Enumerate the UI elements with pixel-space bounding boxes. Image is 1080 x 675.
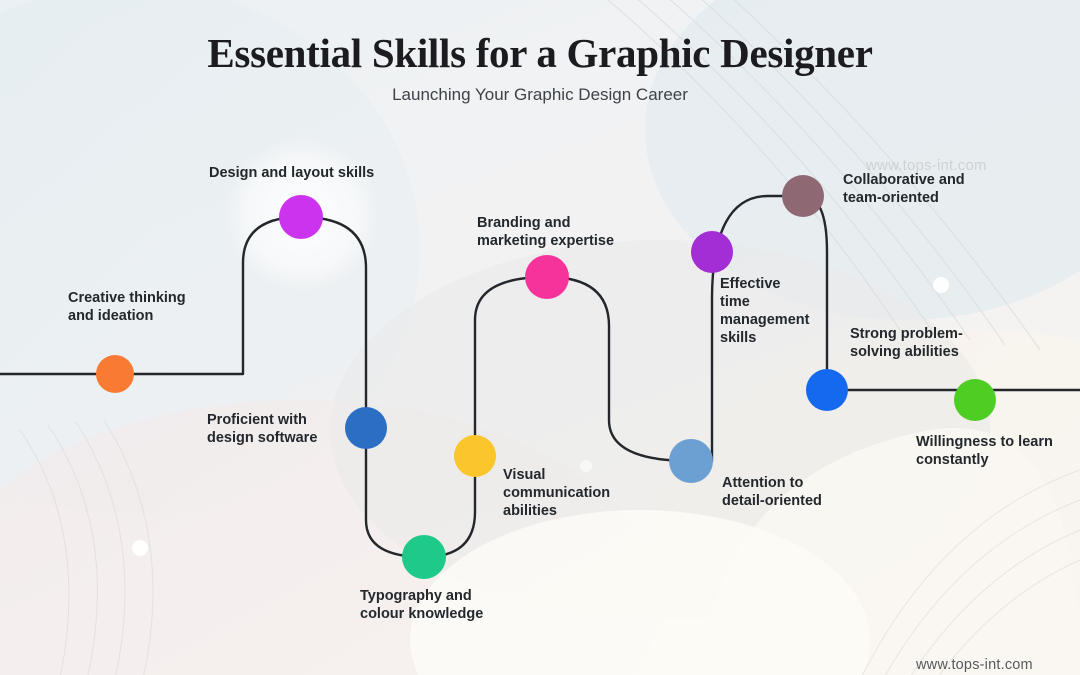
skill-node-label-attention-to-detail-oriented: Attention to detail-oriented <box>722 474 822 510</box>
skill-node-label-creative-thinking-and-ideation: Creative thinking and ideation <box>68 289 186 325</box>
header: Essential Skills for a Graphic Designer … <box>0 30 1080 106</box>
skill-node-dot-proficient-with-design-software[interactable] <box>345 407 387 449</box>
skill-node-label-typography-and-colour-knowledge: Typography and colour knowledge <box>360 587 483 623</box>
skill-node-dot-design-and-layout-skills[interactable] <box>279 195 323 239</box>
skill-node-dot-creative-thinking-and-ideation[interactable] <box>96 355 134 393</box>
skill-node-dot-strong-problem-solving-abilities[interactable] <box>806 369 848 411</box>
skill-node-dot-effective-time-management-skills[interactable] <box>691 231 733 273</box>
skill-node-dot-typography-and-colour-knowledge[interactable] <box>402 535 446 579</box>
skill-node-label-willingness-to-learn-constantly: Willingness to learn constantly <box>916 433 1053 469</box>
skill-node-label-collaborative-and-team-oriented: Collaborative and team-oriented <box>843 171 965 207</box>
skill-node-label-branding-and-marketing-expertise: Branding and marketing expertise <box>477 214 614 250</box>
skill-node-dot-willingness-to-learn-constantly[interactable] <box>954 379 996 421</box>
infographic-canvas: Essential Skills for a Graphic Designer … <box>0 0 1080 675</box>
skill-node-label-strong-problem-solving-abilities: Strong problem- solving abilities <box>850 325 963 361</box>
skill-node-dot-branding-and-marketing-expertise[interactable] <box>525 255 569 299</box>
skill-node-label-effective-time-management-skills: Effective time management skills <box>720 275 809 348</box>
watermark-footer: www.tops-int.com <box>916 657 1033 673</box>
page-title: Essential Skills for a Graphic Designer <box>0 30 1080 77</box>
skill-node-label-visual-communication-abilities: Visual communication abilities <box>503 466 610 520</box>
skill-node-dot-collaborative-and-team-oriented[interactable] <box>782 175 824 217</box>
skill-node-label-design-and-layout-skills: Design and layout skills <box>209 164 374 182</box>
skill-node-dot-visual-communication-abilities[interactable] <box>454 435 496 477</box>
page-subtitle: Launching Your Graphic Design Career <box>0 85 1080 105</box>
skill-node-dot-attention-to-detail-oriented[interactable] <box>669 439 713 483</box>
skill-node-label-proficient-with-design-software: Proficient with design software <box>207 411 317 447</box>
